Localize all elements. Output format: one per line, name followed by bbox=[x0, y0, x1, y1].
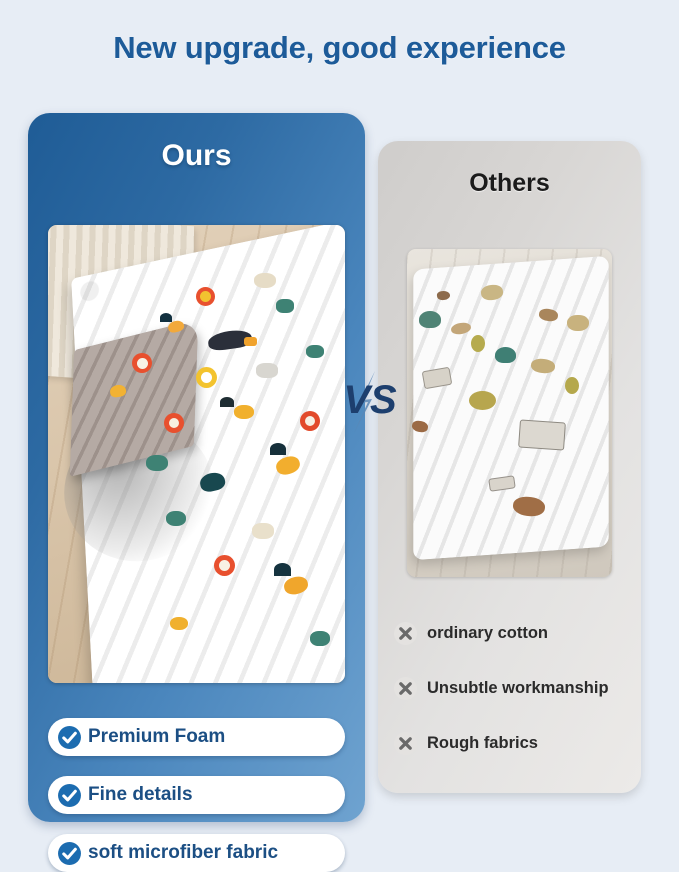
motif-leaf bbox=[471, 335, 485, 352]
drawback-label: Unsubtle workmanship bbox=[427, 679, 609, 698]
motif-cactus bbox=[166, 511, 186, 526]
motif-leaf bbox=[160, 313, 172, 322]
x-circle-icon bbox=[393, 731, 418, 756]
feature-label: Fine details bbox=[88, 784, 193, 806]
motif-tree bbox=[419, 311, 441, 328]
feature-pill: Premium Foam bbox=[48, 718, 345, 756]
page-title: New upgrade, good experience bbox=[0, 30, 679, 66]
motif-cactus bbox=[306, 345, 324, 358]
check-circle-icon bbox=[57, 783, 82, 808]
feature-label: soft microfiber fabric bbox=[88, 842, 278, 864]
feature-pill: Fine details bbox=[48, 776, 345, 814]
motif-animal bbox=[567, 315, 589, 331]
motif-flower-center bbox=[219, 560, 230, 571]
motif-leaf bbox=[270, 443, 286, 455]
drawback-row: ordinary cotton bbox=[393, 618, 548, 648]
motif-flower-center bbox=[305, 416, 315, 426]
x-circle-icon bbox=[393, 676, 418, 701]
drawback-label: ordinary cotton bbox=[427, 624, 548, 643]
drawback-row: Unsubtle workmanship bbox=[393, 673, 609, 703]
motif-cactus bbox=[146, 455, 168, 471]
motif-leaf bbox=[274, 563, 291, 576]
ours-panel-title: Ours bbox=[28, 139, 365, 173]
x-circle-icon bbox=[393, 621, 418, 646]
feature-pill: soft microfiber fabric bbox=[48, 834, 345, 872]
others-mat bbox=[413, 256, 609, 560]
motif-leaf bbox=[565, 377, 579, 394]
motif-tree bbox=[495, 347, 516, 363]
motif-shell bbox=[254, 273, 276, 288]
ours-panel: Ours bbox=[28, 113, 365, 822]
others-panel-title: Others bbox=[378, 169, 641, 198]
motif-shell bbox=[256, 363, 278, 378]
motif-carrot bbox=[234, 405, 254, 419]
motif-flower-center bbox=[200, 291, 211, 302]
motif-leaf bbox=[469, 391, 496, 410]
motif-shell bbox=[252, 523, 274, 539]
others-product-photo bbox=[407, 249, 612, 577]
motif-cactus bbox=[310, 631, 330, 646]
motif-carrot bbox=[170, 617, 188, 630]
versus-label: VS bbox=[343, 378, 397, 422]
motif-cactus bbox=[276, 299, 294, 313]
check-circle-icon bbox=[57, 725, 82, 750]
motif-beak bbox=[244, 337, 257, 346]
feature-label: Premium Foam bbox=[88, 726, 225, 748]
motif-flower-center bbox=[201, 372, 212, 383]
check-circle-icon bbox=[57, 841, 82, 866]
others-panel: Others ordinary cotton bbox=[378, 141, 641, 793]
drawback-label: Rough fabrics bbox=[427, 734, 538, 753]
motif-newspaper bbox=[518, 419, 566, 450]
motif-flower-center bbox=[169, 418, 179, 428]
ours-product-photo bbox=[48, 225, 345, 683]
versus-badge: VS bbox=[339, 369, 401, 435]
motif-leaf bbox=[220, 397, 234, 407]
drawback-row: Rough fabrics bbox=[393, 728, 538, 758]
motif-flower-center bbox=[137, 358, 148, 369]
